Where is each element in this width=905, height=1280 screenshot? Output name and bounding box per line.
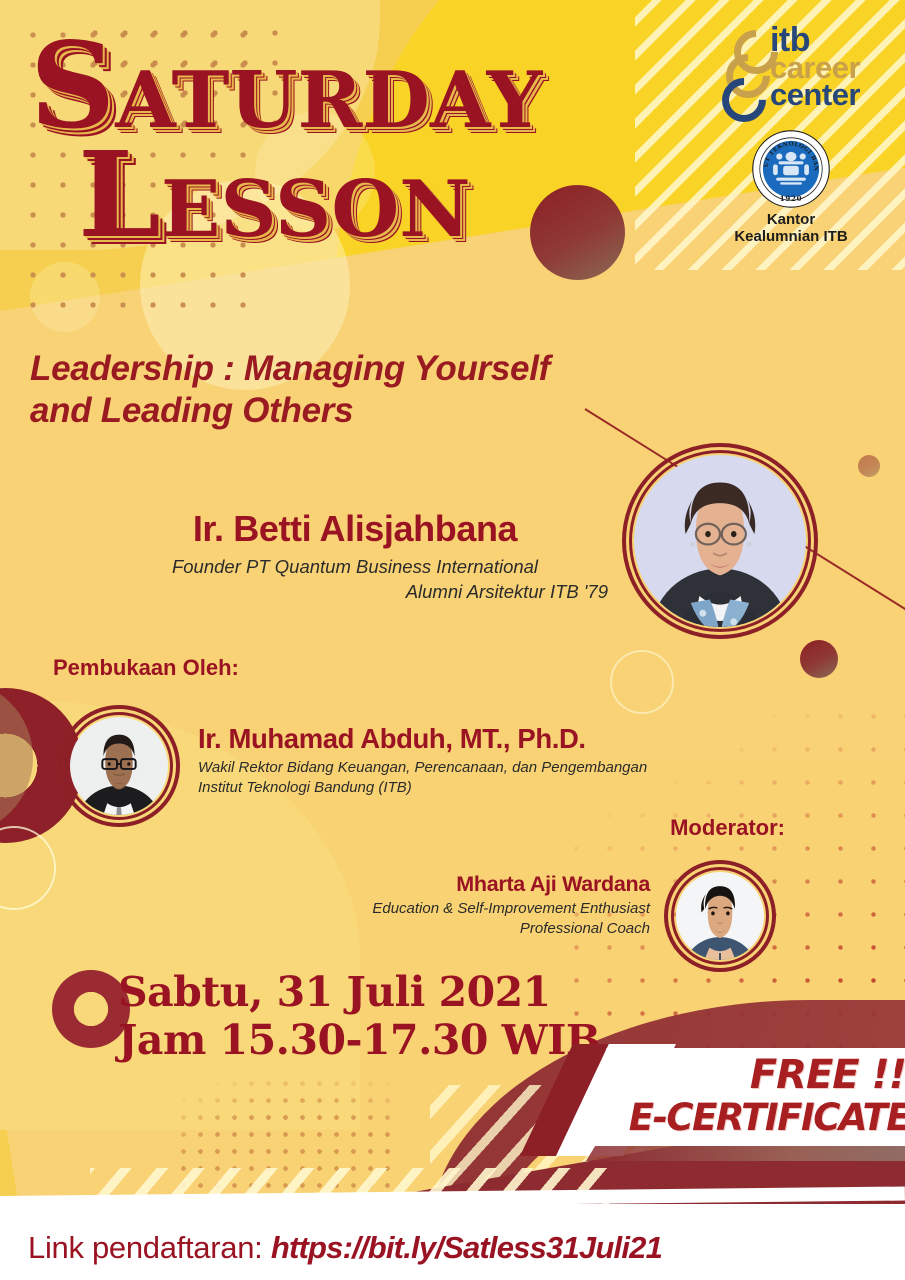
page-title: S ATURDAY L ESSON: [30, 38, 542, 244]
main-speaker-role: Founder PT Quantum Business Internationa…: [100, 555, 610, 605]
free-certificate-badge: FREE !! E-CERTIFICATE: [520, 1048, 905, 1158]
moderator-role: Education & Self-Improvement Enthusiast …: [330, 899, 650, 939]
title-line-2: L ESSON: [78, 147, 542, 244]
logo-group: itb career center: [701, 26, 881, 246]
decor-circle-large: [530, 185, 625, 280]
office-line-1: Kantor: [701, 212, 881, 229]
career-center-wordmark: itb career center: [770, 26, 860, 109]
itb-seal-icon: INSTITUT TEKNOLOGI BANDUNG 1920: [752, 130, 830, 208]
main-speaker-info: Ir. Betti Alisjahbana Founder PT Quantum…: [100, 508, 610, 605]
badge-certificate-text: E-CERTIFICATE: [629, 1096, 905, 1139]
event-date: Sabtu, 31 Juli 2021: [118, 968, 600, 1016]
moderator-avatar: [664, 860, 776, 972]
title-dropcap-l: L: [78, 147, 159, 244]
opening-speaker-avatar: [58, 705, 180, 827]
decor-circle-tiny: [858, 455, 880, 477]
moderator-info: Mharta Aji Wardana Education & Self-Impr…: [330, 872, 650, 939]
main-speaker-role-line-1: Founder PT Quantum Business Internationa…: [172, 556, 538, 577]
opening-speaker-role-line-2: Institut Teknologi Bandung (ITB): [198, 778, 758, 798]
title-rest-lesson: ESSON: [161, 178, 471, 242]
main-speaker-name: Ir. Betti Alisjahbana: [100, 508, 610, 550]
badge-shadow: [586, 1144, 905, 1161]
career-center-arcs-icon: [722, 30, 766, 112]
registration-link[interactable]: Link pendaftaran: https://bit.ly/Satless…: [28, 1230, 662, 1266]
main-speaker-avatar: [622, 443, 818, 639]
moderator-role-line-2: Professional Coach: [330, 919, 650, 939]
opening-speaker-role: Wakil Rektor Bidang Keuangan, Perencanaa…: [198, 758, 758, 799]
itb-career-center-logo: itb career center: [701, 26, 881, 112]
office-name: Kantor Kealumnian ITB: [701, 212, 881, 246]
title-dropcap-s: S: [30, 38, 113, 135]
seal-year: 1920: [780, 194, 803, 203]
opening-speaker-name: Ir. Muhamad Abduh, MT., Ph.D.: [198, 723, 758, 755]
badge-free-text: FREE !!: [750, 1052, 905, 1098]
registration-url[interactable]: https://bit.ly/Satless31Juli21: [271, 1230, 662, 1265]
poster-canvas: itb career center: [0, 0, 905, 1280]
opening-label: Pembukaan Oleh:: [53, 655, 239, 681]
moderator-label: Moderator:: [670, 815, 785, 841]
opening-speaker-info: Ir. Muhamad Abduh, MT., Ph.D. Wakil Rekt…: [198, 723, 758, 799]
registration-label: Link pendaftaran:: [28, 1230, 262, 1265]
opening-speaker-role-line-1: Wakil Rektor Bidang Keuangan, Perencanaa…: [198, 758, 758, 778]
logo-word-center: center: [770, 82, 860, 109]
main-speaker-role-line-2: Alumni Arsitektur ITB '79: [100, 580, 610, 605]
office-line-2: Kealumnian ITB: [701, 229, 881, 246]
decor-circle-small: [800, 640, 838, 678]
poster-subtitle: Leadership : Managing Yourself and Leadi…: [30, 348, 730, 432]
title-rest-saturday: ATURDAY: [115, 69, 542, 133]
moderator-name: Mharta Aji Wardana: [330, 872, 650, 897]
subtitle-line-2: and Leading Others: [30, 390, 730, 432]
subtitle-line-1: Leadership : Managing Yourself: [30, 348, 730, 390]
moderator-role-line-1: Education & Self-Improvement Enthusiast: [330, 899, 650, 919]
title-line-1: S ATURDAY: [30, 38, 542, 135]
